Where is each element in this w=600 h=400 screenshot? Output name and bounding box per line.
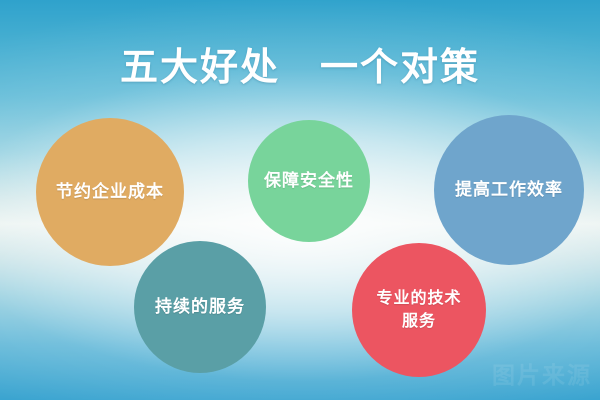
benefit-bubble-tech-label: 专业的技术 服务: [376, 287, 461, 333]
page-title: 五大好处 一个对策: [0, 36, 600, 91]
benefit-bubble-security-line-1: 保障安全性: [264, 169, 354, 194]
benefit-bubble-tech-line-2: 服务: [376, 310, 461, 333]
benefit-bubble-security[interactable]: 保障安全性: [248, 120, 370, 242]
benefit-bubble-security-label: 保障安全性: [264, 169, 354, 194]
benefit-bubble-cost-line-1: 节约企业成本: [56, 180, 164, 205]
benefit-bubble-tech-line-1: 专业的技术: [376, 287, 461, 310]
benefit-bubble-tech[interactable]: 专业的技术 服务: [352, 243, 486, 377]
benefit-bubble-efficiency[interactable]: 提高工作效率: [434, 115, 584, 265]
benefit-bubble-cost-label: 节约企业成本: [56, 180, 164, 205]
benefit-bubble-service-line-1: 持续的服务: [155, 295, 245, 320]
benefit-bubble-efficiency-line-1: 提高工作效率: [455, 178, 563, 203]
benefit-bubble-service[interactable]: 持续的服务: [134, 241, 266, 373]
benefit-bubble-service-label: 持续的服务: [155, 295, 245, 320]
benefit-bubble-efficiency-label: 提高工作效率: [455, 178, 563, 203]
benefit-bubble-cost[interactable]: 节约企业成本: [36, 118, 184, 266]
slide-canvas: 五大好处 一个对策 节约企业成本 保障安全性 提高工作效率 持续的服务 专业的技…: [0, 0, 600, 400]
